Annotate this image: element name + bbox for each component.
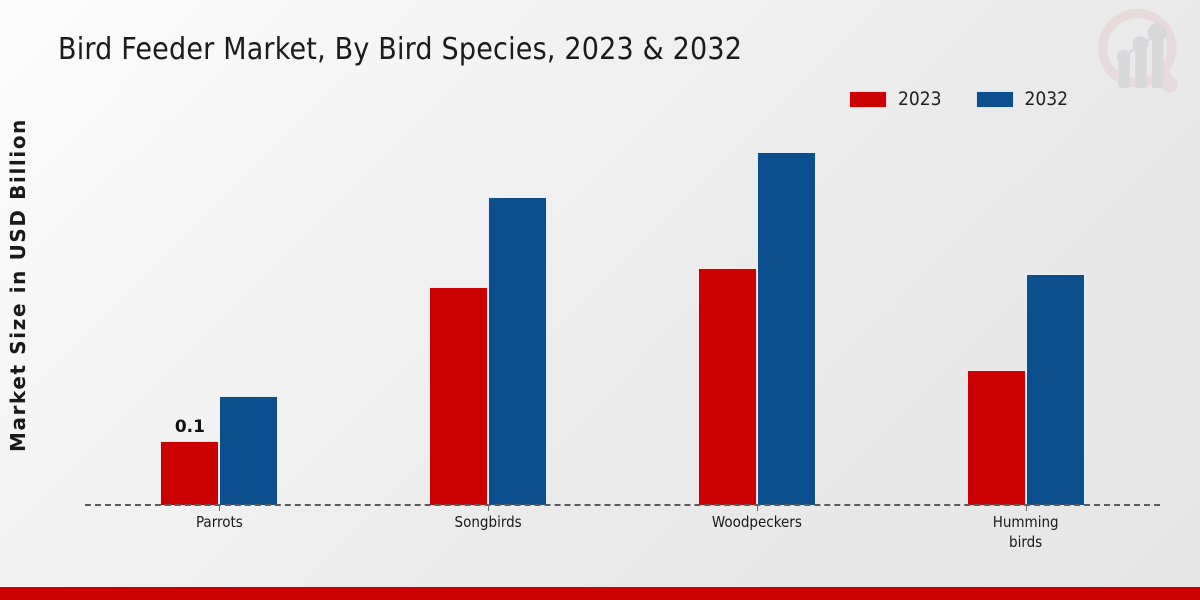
legend-label-2032: 2032: [1025, 90, 1069, 109]
x-axis-tick: [757, 504, 758, 511]
x-axis-tick: [488, 504, 489, 511]
bar-value-label: 0.1: [175, 417, 205, 437]
bar-group: [891, 120, 1160, 505]
y-axis-title: Market Size in USD Billion: [0, 0, 36, 600]
bar-2032[interactable]: [488, 197, 547, 505]
bar-2032[interactable]: [757, 152, 816, 505]
bar-2032[interactable]: [219, 396, 278, 505]
x-axis-category-label: Parrots: [85, 512, 354, 532]
plot-area: 0.1: [85, 120, 1160, 505]
legend-label-2023: 2023: [898, 90, 942, 109]
legend-swatch-2023: [849, 91, 887, 108]
x-axis-tick: [1026, 504, 1027, 511]
bar-group: 0.1: [85, 120, 354, 505]
company-watermark-logo: [1089, 2, 1194, 107]
x-axis-category-label: Songbirds: [354, 512, 623, 532]
x-axis-baseline: [85, 504, 1160, 506]
y-axis-title-text: Market Size in USD Billion: [6, 118, 30, 452]
bar-group: [623, 120, 892, 505]
bar-group: [354, 120, 623, 505]
bar-chart-figure: Bird Feeder Market, By Bird Species, 202…: [0, 0, 1200, 600]
bar-2023[interactable]: [698, 268, 757, 505]
chart-legend: 2023 2032: [849, 90, 1068, 109]
chart-title: Bird Feeder Market, By Bird Species, 202…: [58, 32, 742, 67]
legend-swatch-2032: [976, 91, 1014, 108]
bar-2032[interactable]: [1026, 274, 1085, 505]
x-axis-category-label: Humming birds: [891, 512, 1160, 552]
footer-accent-bar: [0, 587, 1200, 600]
bar-2023[interactable]: [429, 287, 488, 505]
bar-2023[interactable]: 0.1: [160, 441, 219, 505]
legend-item-2032[interactable]: 2032: [976, 90, 1069, 109]
x-axis-tick: [219, 504, 220, 511]
x-axis-category-label: Woodpeckers: [623, 512, 892, 532]
legend-item-2023[interactable]: 2023: [849, 90, 942, 109]
bar-2023[interactable]: [967, 370, 1026, 505]
